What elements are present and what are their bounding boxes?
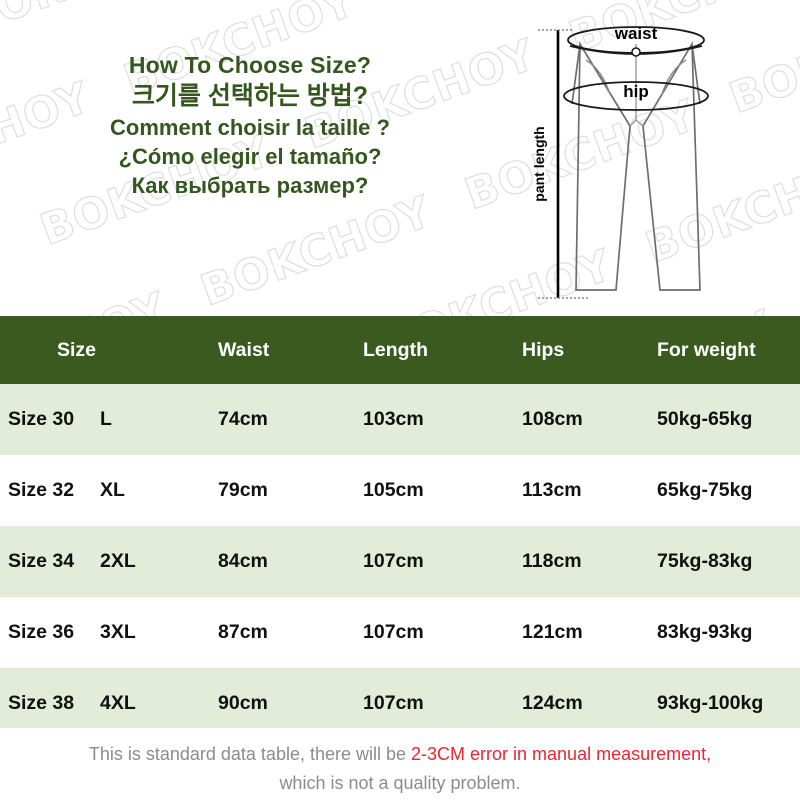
cell-waist: 87cm	[205, 621, 355, 644]
cell-length: 107cm	[355, 692, 521, 715]
cell-length: 107cm	[355, 550, 521, 573]
cell-hips: 108cm	[521, 408, 657, 431]
table-header-row: Size Waist Length Hips For weight	[0, 316, 800, 384]
cell-hips: 118cm	[521, 550, 657, 573]
cell-weight: 65kg-75kg	[657, 479, 800, 502]
heading-russian: Как выбрать размер?	[0, 171, 500, 200]
cell-size-alt: XL	[100, 479, 200, 502]
heading-french: Comment choisir la taille ?	[0, 113, 500, 142]
size-table: Size Waist Length Hips For weight Size 3…	[0, 316, 800, 739]
table-row: Size 34 2XL 84cm 107cm 118cm 75kg-83kg	[0, 526, 800, 597]
cell-size-number: Size 32	[8, 479, 100, 502]
size-chart-page: BOKCHOY BOKCHOY BOKCHOY BOKCHOY BOKCHOY …	[0, 0, 800, 800]
cell-waist: 74cm	[205, 408, 355, 431]
cell-size-number: Size 36	[8, 621, 100, 644]
pants-measurement-diagram: waist hip pant length	[510, 8, 782, 308]
disclaimer-note: This is standard data table, there will …	[0, 728, 800, 800]
cell-length: 107cm	[355, 621, 521, 644]
cell-size-alt: 2XL	[100, 550, 200, 573]
disclaimer-text-gray: This is standard data table, there will …	[89, 744, 411, 764]
table-row: Size 30 L 74cm 103cm 108cm 50kg-65kg	[0, 384, 800, 455]
table-row: Size 32 XL 79cm 105cm 113cm 65kg-75kg	[0, 455, 800, 526]
disclaimer-text-red: 2-3CM error in manual measurement,	[411, 744, 711, 764]
cell-size-number: Size 34	[8, 550, 100, 573]
table-row: Size 36 3XL 87cm 107cm 121cm 83kg-93kg	[0, 597, 800, 668]
header-waist: Waist	[205, 339, 355, 362]
cell-waist: 84cm	[205, 550, 355, 573]
header-weight: For weight	[657, 339, 800, 362]
cell-hips: 113cm	[521, 479, 657, 502]
cell-size-alt: 3XL	[100, 621, 200, 644]
heading-english: How To Choose Size?	[0, 50, 500, 80]
cell-weight: 50kg-65kg	[657, 408, 800, 431]
cell-hips: 121cm	[521, 621, 657, 644]
heading-spanish: ¿Cómo elegir el tamaño?	[0, 142, 500, 171]
intro-section: How To Choose Size? 크기를 선택하는 방법? Comment…	[0, 0, 800, 316]
cell-size-alt: 4XL	[100, 692, 200, 715]
cell-weight: 83kg-93kg	[657, 621, 800, 644]
cell-waist: 79cm	[205, 479, 355, 502]
pant-length-label: pant length	[531, 126, 547, 201]
header-hips: Hips	[521, 339, 657, 362]
waist-label: waist	[614, 24, 658, 43]
cell-weight: 93kg-100kg	[657, 692, 800, 715]
cell-length: 105cm	[355, 479, 521, 502]
cell-size-number: Size 30	[8, 408, 100, 431]
disclaimer-line-2: which is not a quality problem.	[0, 769, 800, 798]
header-length: Length	[355, 339, 521, 362]
cell-size-number: Size 38	[8, 692, 100, 715]
header-size: Size	[0, 339, 205, 362]
hip-label: hip	[623, 82, 649, 101]
right-leg-outline	[643, 44, 700, 290]
cell-weight: 75kg-83kg	[657, 550, 800, 573]
cell-waist: 90cm	[205, 692, 355, 715]
cell-size-alt: L	[100, 408, 200, 431]
headings-block: How To Choose Size? 크기를 선택하는 방법? Comment…	[0, 50, 500, 200]
cell-hips: 124cm	[521, 692, 657, 715]
button-icon	[632, 48, 640, 56]
heading-korean: 크기를 선택하는 방법?	[0, 80, 500, 113]
left-leg-outline	[576, 44, 630, 290]
cell-length: 103cm	[355, 408, 521, 431]
disclaimer-line-1: This is standard data table, there will …	[0, 740, 800, 769]
